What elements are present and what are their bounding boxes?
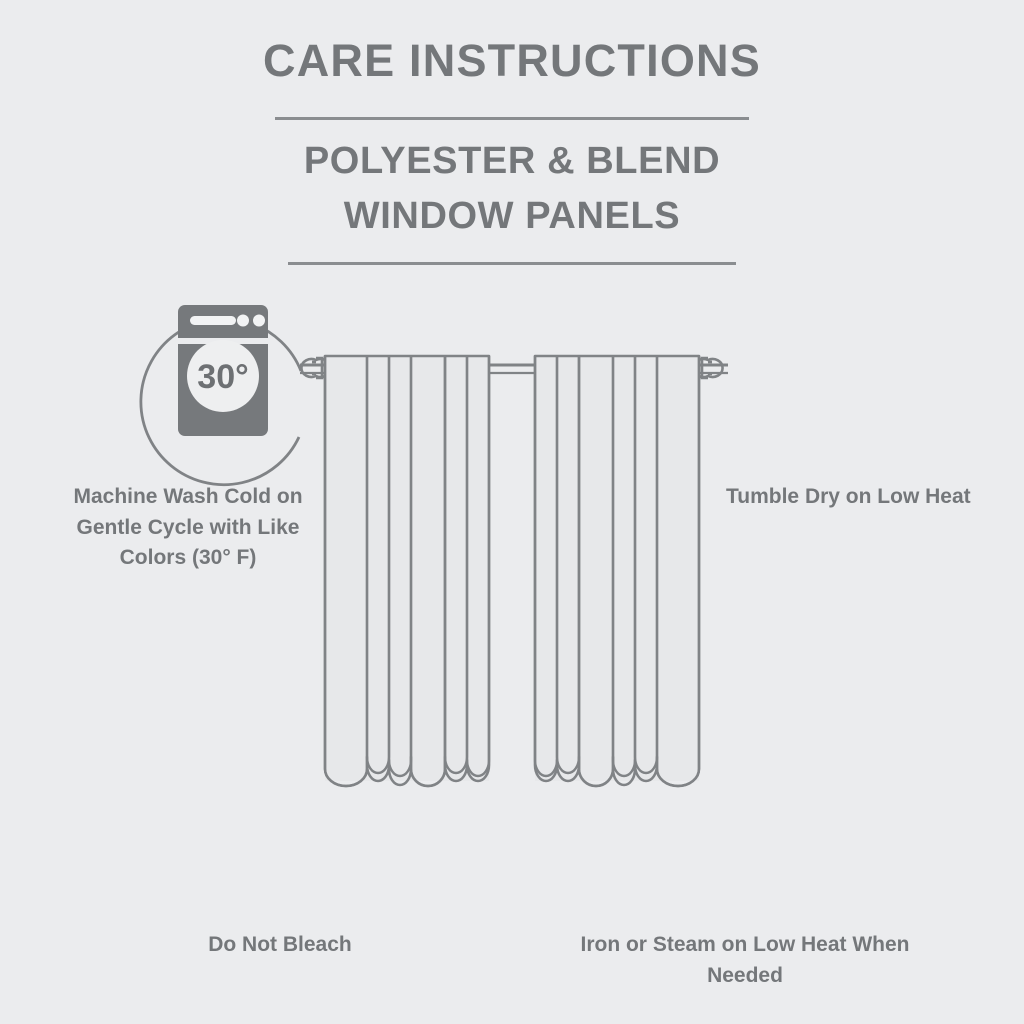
label-tumble-dry: Tumble Dry on Low Heat [726, 482, 976, 513]
care-instructions-page: CARE INSTRUCTIONS POLYESTER & BLEND WIND… [0, 0, 1024, 1024]
window-curtain-illustration [300, 356, 728, 786]
label-do-not-bleach: Do Not Bleach [155, 930, 405, 961]
left-curtain-panel [325, 356, 489, 786]
label-iron: Iron or Steam on Low Heat When Needed [545, 930, 945, 991]
right-curtain-panel [535, 356, 699, 786]
wash-temp-badge: 30° [197, 358, 248, 396]
symbol-machine-wash: 30° [141, 305, 301, 485]
label-machine-wash: Machine Wash Cold on Gentle Cycle with L… [62, 482, 314, 574]
